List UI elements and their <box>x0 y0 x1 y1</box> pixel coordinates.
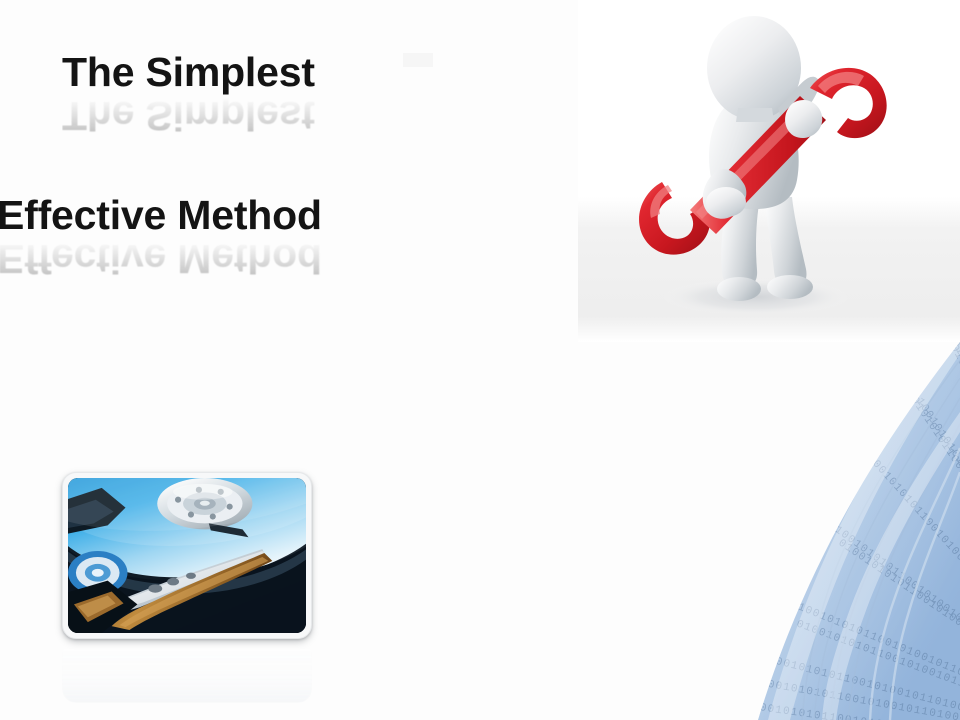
background-artifact <box>403 53 433 67</box>
binary-row: 0100101010110010100101101001011010100101… <box>743 700 960 720</box>
hdd-graphic <box>68 478 306 633</box>
binary-swoosh-decoration: 0100101010110010100101101001011010100101… <box>640 320 960 720</box>
binary-row: 0100101010110010100101101001011010100101… <box>909 390 960 681</box>
binary-row: 0100101010110010100101101001011010100101… <box>948 338 960 647</box>
binary-swoosh-graphic: 0100101010110010100101101001011010100101… <box>640 320 960 720</box>
binary-row: 0100101010110010100101101001011010100101… <box>859 447 960 710</box>
title-line-2-reflection: Effective Method <box>0 238 322 279</box>
binary-row: 0100101010110010100101101001011010100101… <box>936 322 960 631</box>
binary-row: 0100101010110010100101101001011010100101… <box>751 676 960 720</box>
hdd-reflection-sheen <box>62 641 312 703</box>
hdd-photo-reflection <box>62 641 312 703</box>
hdd-photo-frame <box>62 472 312 639</box>
binary-row: 0100101010110010100101101001011010100101… <box>895 376 960 667</box>
title-line-1-reflection: The Simplest <box>62 95 315 136</box>
binary-row: 0100101010110010100101101001011010100101… <box>759 652 960 720</box>
hdd-photo-clip <box>68 478 306 633</box>
title-line-1: The Simplest <box>62 52 315 93</box>
wrench-figure-graphic <box>578 0 960 342</box>
binary-row: 0100101010110010100101101001011010100101… <box>795 618 960 720</box>
binary-row: 0100101010110010100101101001011010100101… <box>826 520 960 720</box>
binary-row: 0100101010110010100101101001011010100101… <box>836 537 960 720</box>
person-with-wrench-illustration <box>578 0 960 342</box>
presentation-slide: The Simplest The Simplest Effective Meth… <box>0 0 960 720</box>
hard-disk-drive-photo <box>62 472 312 639</box>
title-line-2: Effective Method <box>0 195 322 236</box>
binary-row: 0100101010110010100101101001011010100101… <box>789 599 960 720</box>
